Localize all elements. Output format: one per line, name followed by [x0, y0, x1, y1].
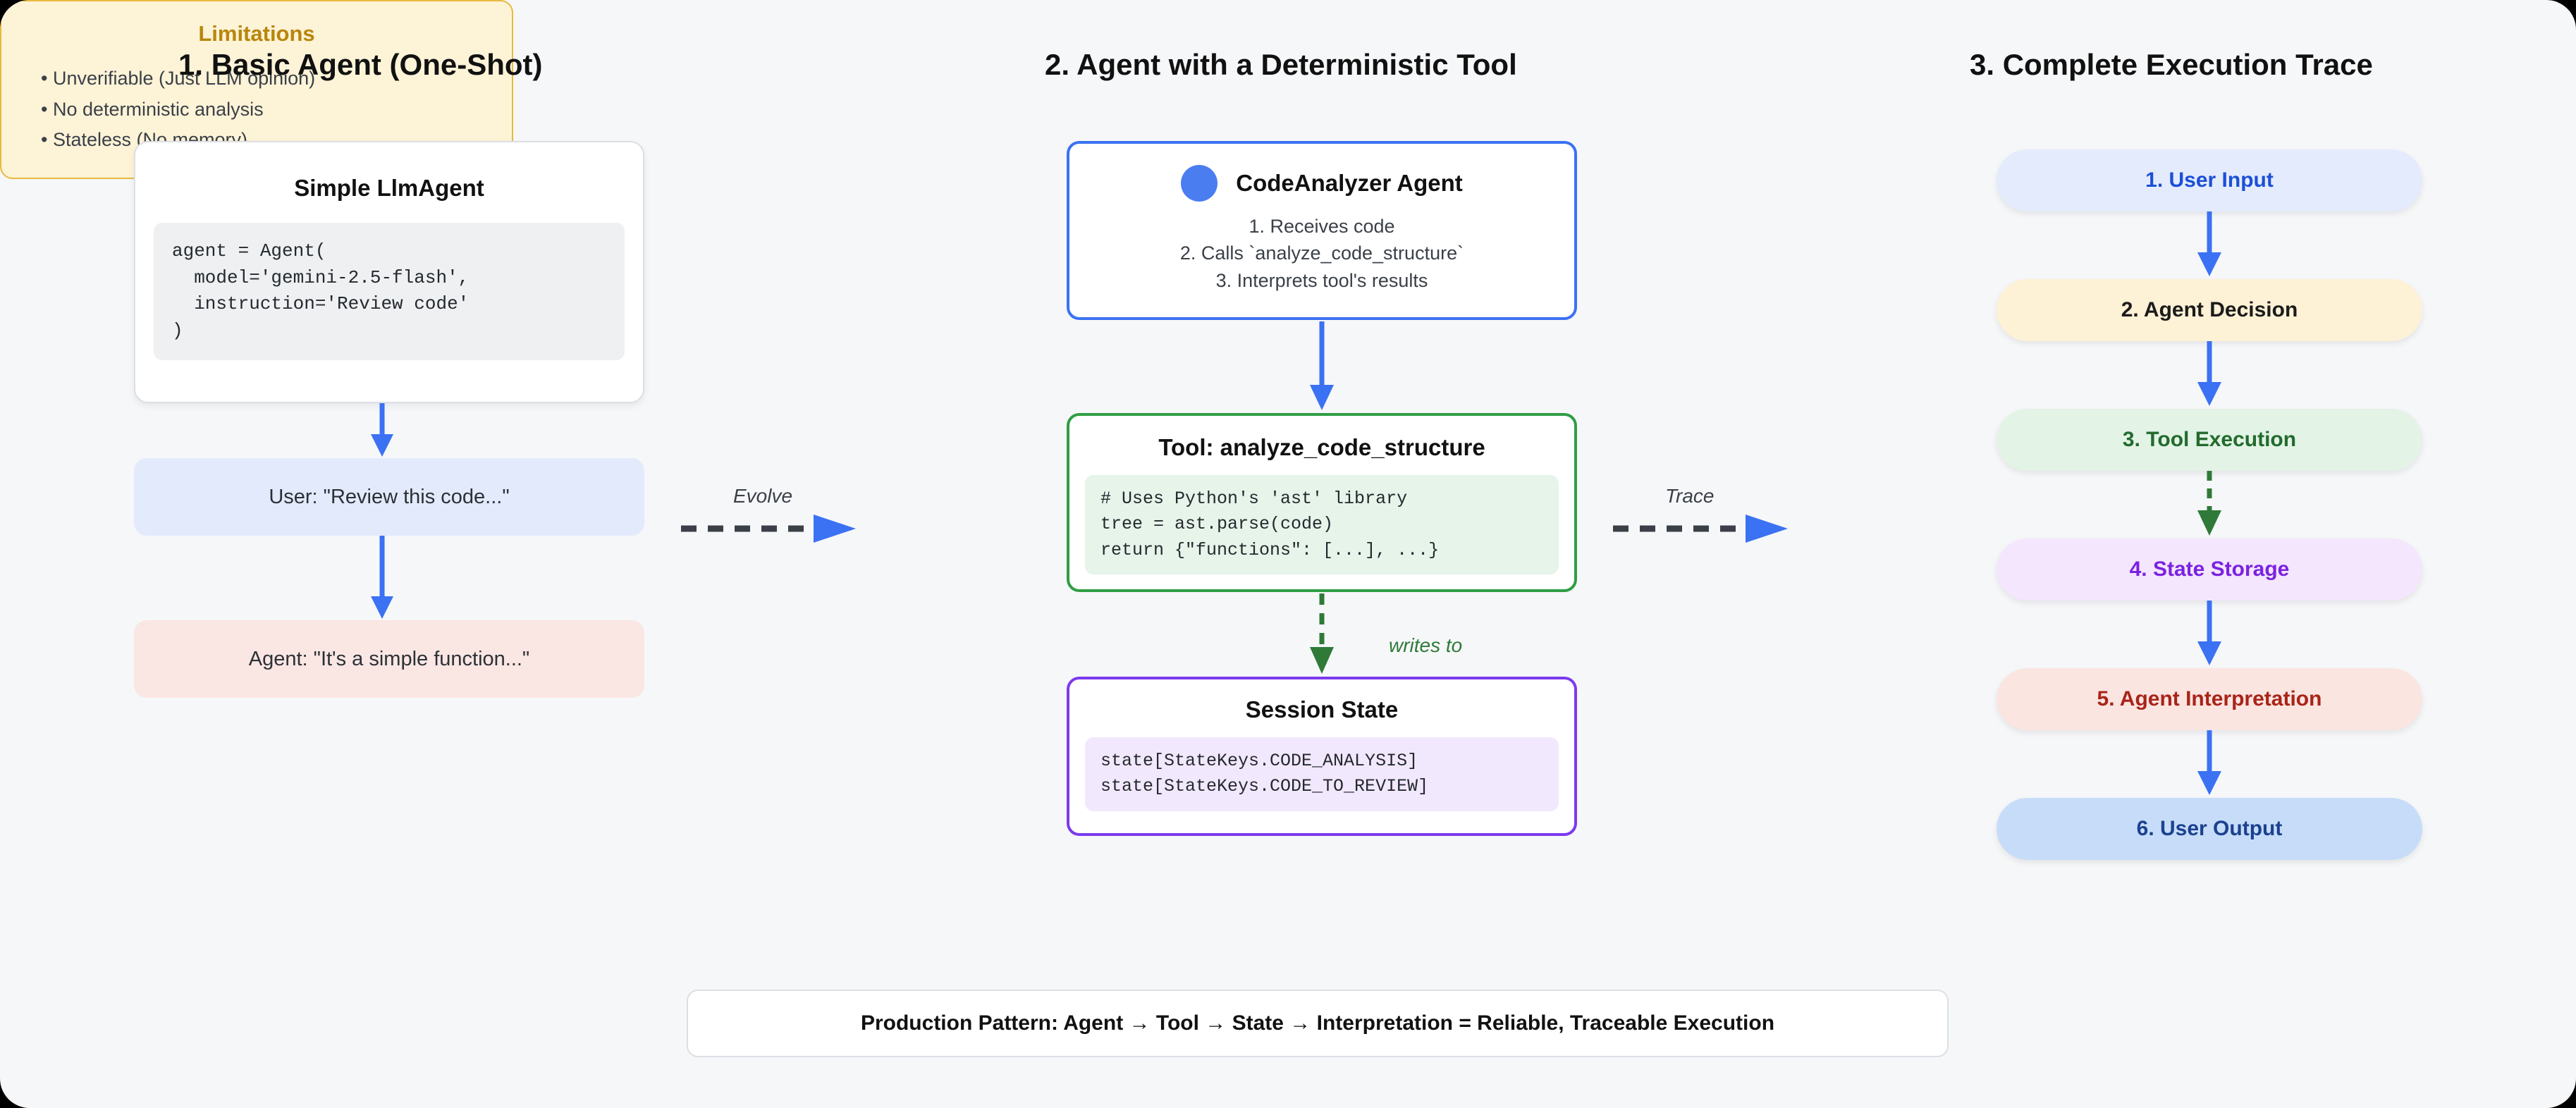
- diagram-page: 1. Basic Agent (One-Shot) 2. Agent with …: [0, 0, 2576, 1108]
- tool-code-block: # Uses Python's 'ast' library tree = ast…: [1085, 475, 1559, 574]
- session-state-code-block: state[StateKeys.CODE_ANALYSIS] state[Sta…: [1085, 737, 1559, 811]
- trace-step-user-input: 1. User Input: [1997, 149, 2422, 211]
- trace-step-user-output: 6. User Output: [1997, 798, 2422, 860]
- arrow-step4-to-step5: [2195, 601, 2224, 667]
- arrow-agent-to-tool: [1308, 321, 1336, 412]
- trace-step-label: 3. Tool Execution: [2123, 428, 2296, 452]
- codeanalyzer-agent-header: CodeAnalyzer Agent: [1069, 165, 1574, 202]
- trace-step-state-storage: 4. State Storage: [1997, 538, 2422, 601]
- arrow-userbubble-to-agentbubble: [368, 536, 396, 620]
- production-pattern-banner: Production Pattern: Agent → Tool → State…: [687, 990, 1949, 1057]
- trace-step-label: 2. Agent Decision: [2121, 298, 2298, 322]
- arrow-step2-to-step3: [2195, 341, 2224, 407]
- trace-step-label: 1. User Input: [2145, 168, 2274, 192]
- agent-message-bubble: Agent: "It's a simple function...": [134, 620, 644, 698]
- list-item: No deterministic analysis: [41, 94, 512, 125]
- trace-step-label: 5. Agent Interpretation: [2097, 687, 2322, 711]
- simple-llmagent-card: Simple LlmAgent agent = Agent( model='ge…: [134, 141, 644, 403]
- arrow-step5-to-step6: [2195, 730, 2224, 796]
- trace-step-agent-interpretation: 5. Agent Interpretation: [1997, 668, 2422, 730]
- evolve-connector-label: Evolve: [733, 485, 792, 507]
- column-title-basic-agent: 1. Basic Agent (One-Shot): [178, 48, 543, 82]
- limitations-title: Limitations: [1, 21, 512, 47]
- writes-to-connector-label: writes to: [1389, 634, 1462, 657]
- arrow-trace: [1613, 515, 1796, 543]
- trace-step-tool-execution: 3. Tool Execution: [1997, 409, 2422, 471]
- trace-step-label: 4. State Storage: [2130, 558, 2290, 581]
- codeanalyzer-agent-card: CodeAnalyzer Agent 1. Receives code 2. C…: [1067, 141, 1577, 320]
- column-title-execution-trace: 3. Complete Execution Trace: [1970, 48, 2373, 82]
- arrow-evolve: [681, 515, 864, 543]
- column-title-agent-with-tool: 2. Agent with a Deterministic Tool: [1045, 48, 1517, 82]
- agent-avatar-circle-icon: [1181, 165, 1218, 202]
- session-state-title: Session State: [1069, 696, 1574, 723]
- user-message-bubble: User: "Review this code...": [134, 458, 644, 536]
- arrow-step3-to-step4: [2195, 471, 2224, 537]
- tool-analyze-code-structure-card: Tool: analyze_code_structure # Uses Pyth…: [1067, 413, 1577, 592]
- session-state-card: Session State state[StateKeys.CODE_ANALY…: [1067, 677, 1577, 836]
- codeanalyzer-agent-steps: 1. Receives code 2. Calls `analyze_code_…: [1069, 213, 1574, 294]
- arrow-agentcard-to-userbubble: [368, 403, 396, 458]
- arrow-tool-to-state: [1308, 593, 1336, 675]
- trace-connector-label: Trace: [1665, 485, 1715, 507]
- trace-step-agent-decision: 2. Agent Decision: [1997, 279, 2422, 341]
- simple-llmagent-title: Simple LlmAgent: [135, 175, 643, 202]
- trace-step-label: 6. User Output: [2137, 817, 2283, 841]
- codeanalyzer-agent-title: CodeAnalyzer Agent: [1236, 170, 1463, 197]
- arrow-step1-to-step2: [2195, 211, 2224, 278]
- tool-card-title: Tool: analyze_code_structure: [1069, 434, 1574, 461]
- simple-llmagent-code-block: agent = Agent( model='gemini-2.5-flash',…: [154, 223, 625, 360]
